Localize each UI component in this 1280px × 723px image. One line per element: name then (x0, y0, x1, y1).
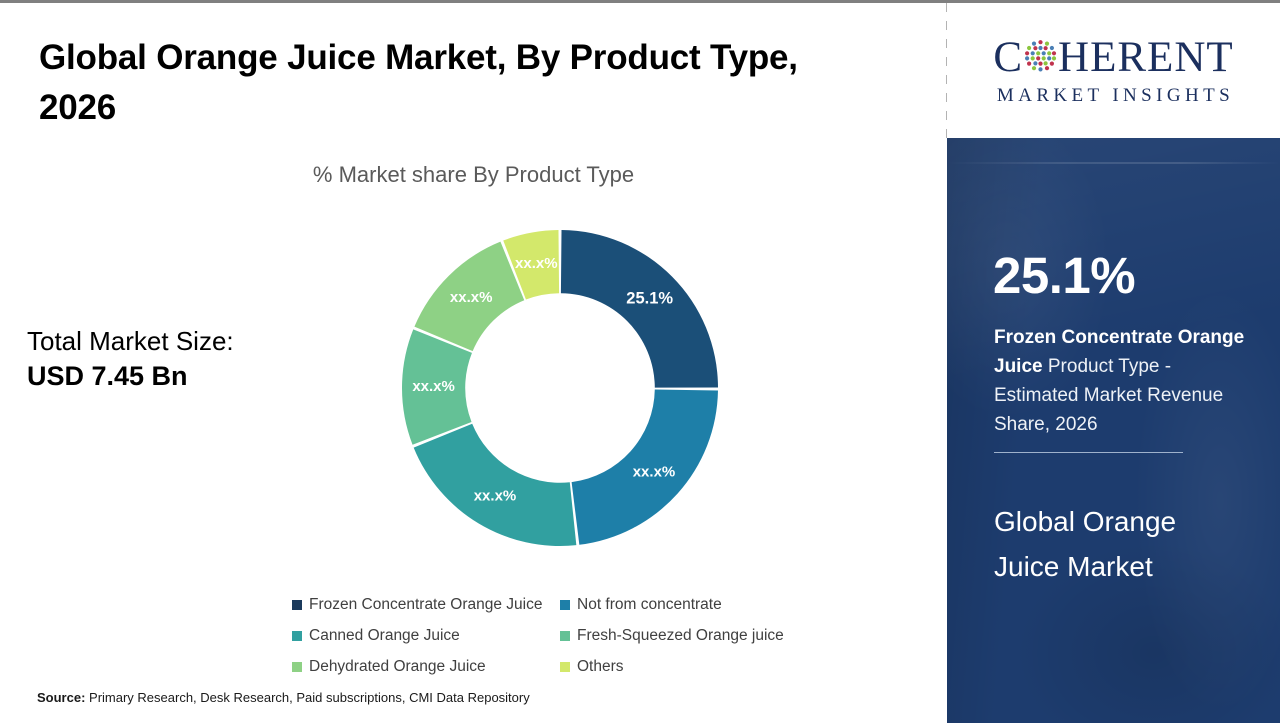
legend-item[interactable]: Frozen Concentrate Orange Juice (292, 589, 560, 620)
donut-slice-label: xx.x% (450, 289, 493, 306)
logo-wordmark: C (993, 35, 1233, 81)
legend-swatch-icon (292, 600, 302, 610)
source-line: Source: Primary Research, Desk Research,… (37, 690, 530, 705)
legend-item[interactable]: Not from concentrate (560, 589, 828, 620)
legend-item[interactable]: Fresh-Squeezed Orange juice (560, 620, 828, 651)
right-sidebar-pane: C (947, 3, 1280, 723)
logo-letters-herent: HERENT (1058, 36, 1234, 79)
legend-swatch-icon (560, 631, 570, 641)
donut-slice-label: 25.1% (626, 289, 673, 307)
donut-slice[interactable] (561, 230, 718, 388)
chart-legend: Frozen Concentrate Orange JuiceNot from … (292, 589, 852, 682)
donut-slice-label: xx.x% (474, 487, 517, 504)
legend-label: Canned Orange Juice (309, 627, 460, 645)
logo-letter-c: C (993, 36, 1023, 79)
source-label: Source: (37, 690, 85, 705)
legend-item[interactable]: Dehydrated Orange Juice (292, 651, 560, 682)
donut-chart-svg: 25.1%xx.x%xx.x%xx.x%xx.x%xx.x% (400, 228, 720, 548)
chart-subtitle: % Market share By Product Type (0, 162, 947, 188)
legend-label: Others (577, 658, 624, 676)
total-market-size-value: USD 7.45 Bn (27, 358, 327, 394)
legend-swatch-icon (560, 600, 570, 610)
panel-divider (994, 452, 1183, 453)
legend-swatch-icon (560, 662, 570, 672)
legend-label: Fresh-Squeezed Orange juice (577, 627, 784, 645)
page-title: Global Orange Juice Market, By Product T… (39, 33, 869, 132)
brand-logo: C (947, 3, 1280, 138)
donut-slice-label: xx.x% (515, 255, 558, 272)
donut-slice-label: xx.x% (412, 378, 455, 395)
left-content-pane: Global Orange Juice Market, By Product T… (0, 3, 947, 723)
stat-panel: 25.1% Frozen Concentrate Orange Juice Pr… (947, 138, 1280, 723)
total-market-size-label: Total Market Size: (27, 325, 327, 358)
donut-chart: 25.1%xx.x%xx.x%xx.x%xx.x%xx.x% (400, 228, 720, 548)
legend-item[interactable]: Canned Orange Juice (292, 620, 560, 651)
legend-label: Dehydrated Orange Juice (309, 658, 486, 676)
source-text: Primary Research, Desk Research, Paid su… (85, 690, 529, 705)
total-market-size-block: Total Market Size: USD 7.45 Bn (27, 325, 327, 394)
donut-slice[interactable] (414, 424, 577, 546)
panel-footer-title: Global Orange Juice Market (994, 500, 1244, 590)
panel-background-streak (947, 162, 1280, 164)
infographic-canvas: Global Orange Juice Market, By Product T… (0, 0, 1280, 720)
donut-slice-label: xx.x% (633, 463, 676, 480)
globe-dots-icon (1024, 39, 1057, 77)
stat-percent-value: 25.1% (993, 250, 1135, 301)
logo-subtitle: MARKET INSIGHTS (993, 85, 1234, 107)
legend-label: Frozen Concentrate Orange Juice (309, 596, 542, 614)
legend-swatch-icon (292, 631, 302, 641)
legend-label: Not from concentrate (577, 596, 722, 614)
legend-item[interactable]: Others (560, 651, 828, 682)
stat-description: Frozen Concentrate Orange Juice Product … (994, 324, 1258, 440)
legend-swatch-icon (292, 662, 302, 672)
